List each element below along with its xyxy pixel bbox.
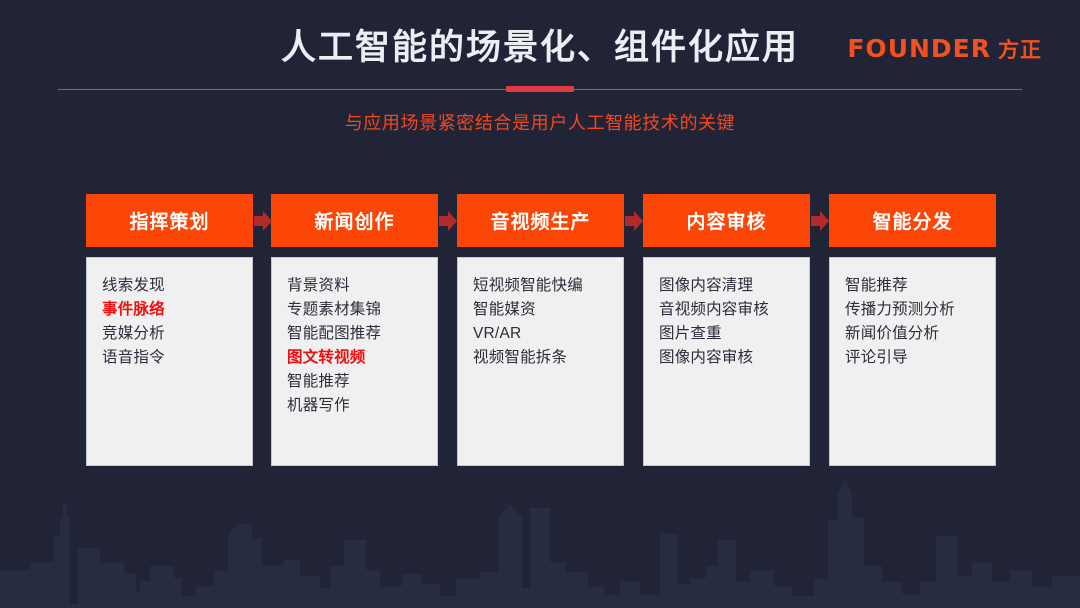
logo-cjk-text: 方正 bbox=[998, 39, 1042, 62]
column-header-1[interactable]: 指挥策划 bbox=[86, 194, 253, 247]
column-body-3: 短视频智能快编 智能媒资 VR/AR 视频智能拆条 bbox=[457, 257, 624, 466]
list-item: 语音指令 bbox=[102, 346, 252, 370]
column-body-2: 背景资料 专题素材集锦 智能配图推荐 图文转视频 智能推荐 机器写作 bbox=[271, 257, 438, 466]
process-column-5: 智能分发 智能推荐 传播力预测分析 新闻价值分析 评论引导 bbox=[829, 194, 996, 466]
list-item: 智能媒资 bbox=[473, 298, 623, 322]
column-header-label: 音视频生产 bbox=[490, 207, 590, 234]
list-item-highlighted: 图文转视频 bbox=[287, 346, 437, 370]
page-subtitle: 与应用场景紧密结合是用户人工智能技术的关键 bbox=[0, 110, 1080, 136]
column-header-label: 内容审核 bbox=[686, 207, 766, 234]
column-header-label: 智能分发 bbox=[872, 207, 952, 234]
list-item: 新闻价值分析 bbox=[845, 322, 995, 346]
column-body-4: 图像内容清理 音视频内容审核 图片查重 图像内容审核 bbox=[643, 257, 810, 466]
column-body-1: 线索发现 事件脉络 竞媒分析 语音指令 bbox=[86, 257, 253, 466]
list-item: 专题素材集锦 bbox=[287, 298, 437, 322]
column-header-3[interactable]: 音视频生产 bbox=[457, 194, 624, 247]
list-item: 图片查重 bbox=[659, 322, 809, 346]
list-item: 智能配图推荐 bbox=[287, 322, 437, 346]
process-column-4: 内容审核 图像内容清理 音视频内容审核 图片查重 图像内容审核 bbox=[643, 194, 810, 466]
list-item: 智能推荐 bbox=[845, 274, 995, 298]
list-item: 机器写作 bbox=[287, 394, 437, 418]
header-divider-accent bbox=[506, 86, 574, 92]
process-column-2: 新闻创作 背景资料 专题素材集锦 智能配图推荐 图文转视频 智能推荐 机器写作 bbox=[271, 194, 438, 466]
list-item: 线索发现 bbox=[102, 274, 252, 298]
list-item-highlighted: 事件脉络 bbox=[102, 298, 252, 322]
list-item: 传播力预测分析 bbox=[845, 298, 995, 322]
column-header-label: 新闻创作 bbox=[314, 207, 394, 234]
column-header-label: 指挥策划 bbox=[129, 207, 209, 234]
list-item: VR/AR bbox=[473, 322, 623, 346]
slide-root: 人工智能的场景化、组件化应用 FOUNDER方正 与应用场景紧密结合是用户人工智… bbox=[0, 0, 1080, 608]
list-item: 图像内容审核 bbox=[659, 346, 809, 370]
column-header-5[interactable]: 智能分发 bbox=[829, 194, 996, 247]
list-item: 图像内容清理 bbox=[659, 274, 809, 298]
arrow-connector-icon bbox=[811, 211, 829, 231]
arrow-connector-icon bbox=[625, 211, 643, 231]
list-item: 短视频智能快编 bbox=[473, 274, 623, 298]
list-item: 评论引导 bbox=[845, 346, 995, 370]
arrow-connector-icon bbox=[254, 211, 272, 231]
list-item: 背景资料 bbox=[287, 274, 437, 298]
column-header-2[interactable]: 新闻创作 bbox=[271, 194, 438, 247]
process-columns: 指挥策划 线索发现 事件脉络 竞媒分析 语音指令 新闻创作 背景资料 专题素材集 bbox=[86, 194, 996, 466]
list-item: 视频智能拆条 bbox=[473, 346, 623, 370]
list-item: 智能推荐 bbox=[287, 370, 437, 394]
process-column-3: 音视频生产 短视频智能快编 智能媒资 VR/AR 视频智能拆条 bbox=[457, 194, 624, 466]
logo-latin-text: FOUNDER bbox=[847, 34, 991, 63]
founder-logo: FOUNDER方正 bbox=[847, 34, 1042, 66]
column-header-4[interactable]: 内容审核 bbox=[643, 194, 810, 247]
list-item: 竞媒分析 bbox=[102, 322, 252, 346]
city-skyline-decoration bbox=[0, 478, 1080, 608]
list-item: 音视频内容审核 bbox=[659, 298, 809, 322]
arrow-connector-icon bbox=[439, 211, 457, 231]
process-column-1: 指挥策划 线索发现 事件脉络 竞媒分析 语音指令 bbox=[86, 194, 253, 466]
column-body-5: 智能推荐 传播力预测分析 新闻价值分析 评论引导 bbox=[829, 257, 996, 466]
